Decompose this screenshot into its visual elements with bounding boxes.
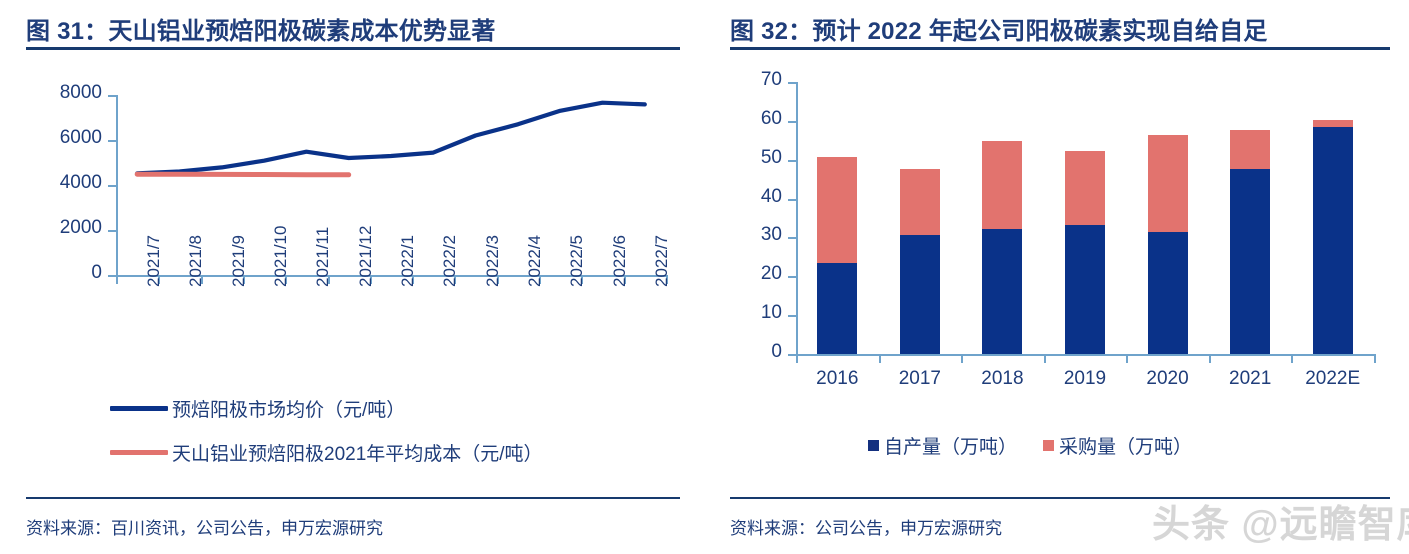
y-tick-label: 10	[740, 302, 782, 324]
x-tick	[961, 354, 963, 363]
figure-31-panel: 图 31：天山铝业预焙阳极碳素成本优势显著 020004000600080002…	[0, 0, 704, 554]
legend-item-market-price: 预焙阳极市场均价（元/吨）	[110, 395, 405, 422]
figure-32-panel: 图 32：预计 2022 年起公司阳极碳素实现自给自足 010203040506…	[704, 0, 1409, 554]
figure-32-legend: 自产量（万吨） 采购量（万吨）	[868, 432, 1192, 459]
legend-swatch-line-blue	[110, 406, 168, 411]
bar-segment-purchase	[900, 169, 940, 235]
line-series-svg	[26, 60, 680, 300]
x-tick-label: 2016	[803, 368, 871, 390]
figure-31-legend: 预焙阳极市场均价（元/吨） 天山铝业预焙阳极2021年平均成本（元/吨）	[110, 395, 670, 475]
legend-label-avg-cost: 天山铝业预焙阳极2021年平均成本（元/吨）	[172, 439, 543, 466]
y-tick-label: 30	[740, 224, 782, 246]
x-tick	[1044, 354, 1046, 363]
legend-swatch-square-red	[1043, 440, 1054, 451]
line-market-price	[137, 103, 645, 174]
legend-item-purchase: 采购量（万吨）	[1043, 432, 1192, 459]
bar-segment-purchase	[817, 157, 857, 263]
x-tick-label: 2022E	[1299, 368, 1367, 390]
y-tick	[788, 121, 796, 123]
bar-segment-self-production	[1313, 127, 1353, 354]
legend-label-purchase: 采购量（万吨）	[1059, 432, 1192, 459]
y-tick	[788, 276, 796, 278]
bar-segment-self-production	[1230, 169, 1270, 354]
x-tick-label: 2019	[1051, 368, 1119, 390]
figure-32-source: 资料来源：公司公告，申万宏源研究	[730, 514, 1002, 539]
y-tick-label: 40	[740, 186, 782, 208]
legend-label-market-price: 预焙阳极市场均价（元/吨）	[172, 395, 405, 422]
bar-segment-self-production	[817, 263, 857, 354]
y-tick	[788, 82, 796, 84]
figure-page: 图 31：天山铝业预焙阳极碳素成本优势显著 020004000600080002…	[0, 0, 1409, 554]
bar-segment-purchase	[1148, 135, 1188, 231]
x-tick-label: 2021	[1216, 368, 1284, 390]
legend-swatch-square-blue	[868, 440, 879, 451]
bar-segment-self-production	[982, 229, 1022, 354]
figure-32-footer-rule	[730, 497, 1390, 499]
y-tick-label: 70	[740, 69, 782, 91]
figure-32-title: 图 32：预计 2022 年起公司阳极碳素实现自给自足	[730, 11, 1268, 46]
x-tick-label: 2017	[886, 368, 954, 390]
y-tick	[788, 237, 796, 239]
figure-31-source: 资料来源：百川资讯，公司公告，申万宏源研究	[26, 514, 383, 539]
legend-label-self-production: 自产量（万吨）	[884, 432, 1017, 459]
figure-32-plot-area: 0102030405060702016201720182019202020212…	[740, 60, 1390, 400]
y-tick	[788, 315, 796, 317]
y-tick	[788, 354, 796, 356]
x-tick-label: 2020	[1134, 368, 1202, 390]
x-tick	[879, 354, 881, 363]
x-tick	[1374, 354, 1376, 363]
bar-segment-purchase	[1065, 151, 1105, 225]
y-axis-line	[796, 82, 798, 355]
y-tick-label: 0	[740, 341, 782, 363]
figure-31-title-rule	[26, 47, 680, 50]
figure-31-plot-area: 020004000600080002021/72021/82021/92021/…	[26, 60, 680, 300]
legend-swatch-line-red	[110, 450, 168, 455]
x-tick	[1126, 354, 1128, 363]
y-tick-label: 50	[740, 147, 782, 169]
figure-32-title-rule	[730, 47, 1390, 50]
x-tick	[1209, 354, 1211, 363]
bar-segment-self-production	[1148, 232, 1188, 354]
x-tick-label: 2018	[968, 368, 1036, 390]
legend-item-avg-cost: 天山铝业预焙阳极2021年平均成本（元/吨）	[110, 439, 543, 466]
bar-segment-purchase	[1230, 130, 1270, 170]
y-tick-label: 20	[740, 263, 782, 285]
x-tick	[796, 354, 798, 363]
bar-segment-self-production	[1065, 225, 1105, 354]
y-tick-label: 60	[740, 108, 782, 130]
figure-31-footer-rule	[26, 497, 680, 499]
bar-segment-self-production	[900, 235, 940, 354]
x-tick	[1291, 354, 1293, 363]
line-average-cost	[137, 174, 349, 175]
x-axis-line	[796, 354, 1376, 356]
bar-segment-purchase	[1313, 120, 1353, 127]
figure-31-title: 图 31：天山铝业预焙阳极碳素成本优势显著	[26, 11, 496, 46]
y-tick	[788, 160, 796, 162]
bar-segment-purchase	[982, 141, 1022, 229]
legend-item-self-production: 自产量（万吨）	[868, 432, 1017, 459]
y-tick	[788, 199, 796, 201]
